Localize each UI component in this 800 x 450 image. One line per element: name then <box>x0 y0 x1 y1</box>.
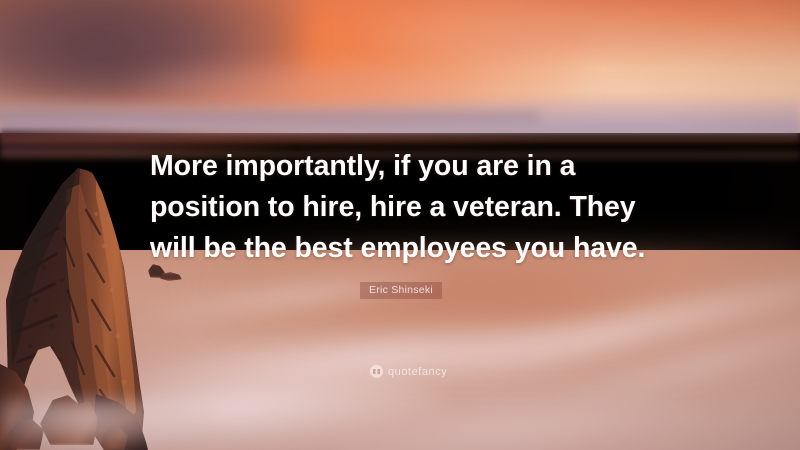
quote-text: More importantly, if you are in a positi… <box>150 146 680 269</box>
watermark-brand: quotefancy <box>388 366 447 378</box>
sea-band-upper <box>0 136 800 143</box>
quote-poster: More importantly, if you are in a positi… <box>0 0 800 450</box>
surf-mist-over-rocks <box>0 398 200 450</box>
watermark: quotefancy <box>370 365 447 378</box>
horizon-haze-streak <box>0 108 540 126</box>
author-attribution: Eric Shinseki <box>360 282 442 299</box>
quote-mark-icon <box>370 365 383 378</box>
cloud-wisp-right <box>360 6 690 60</box>
